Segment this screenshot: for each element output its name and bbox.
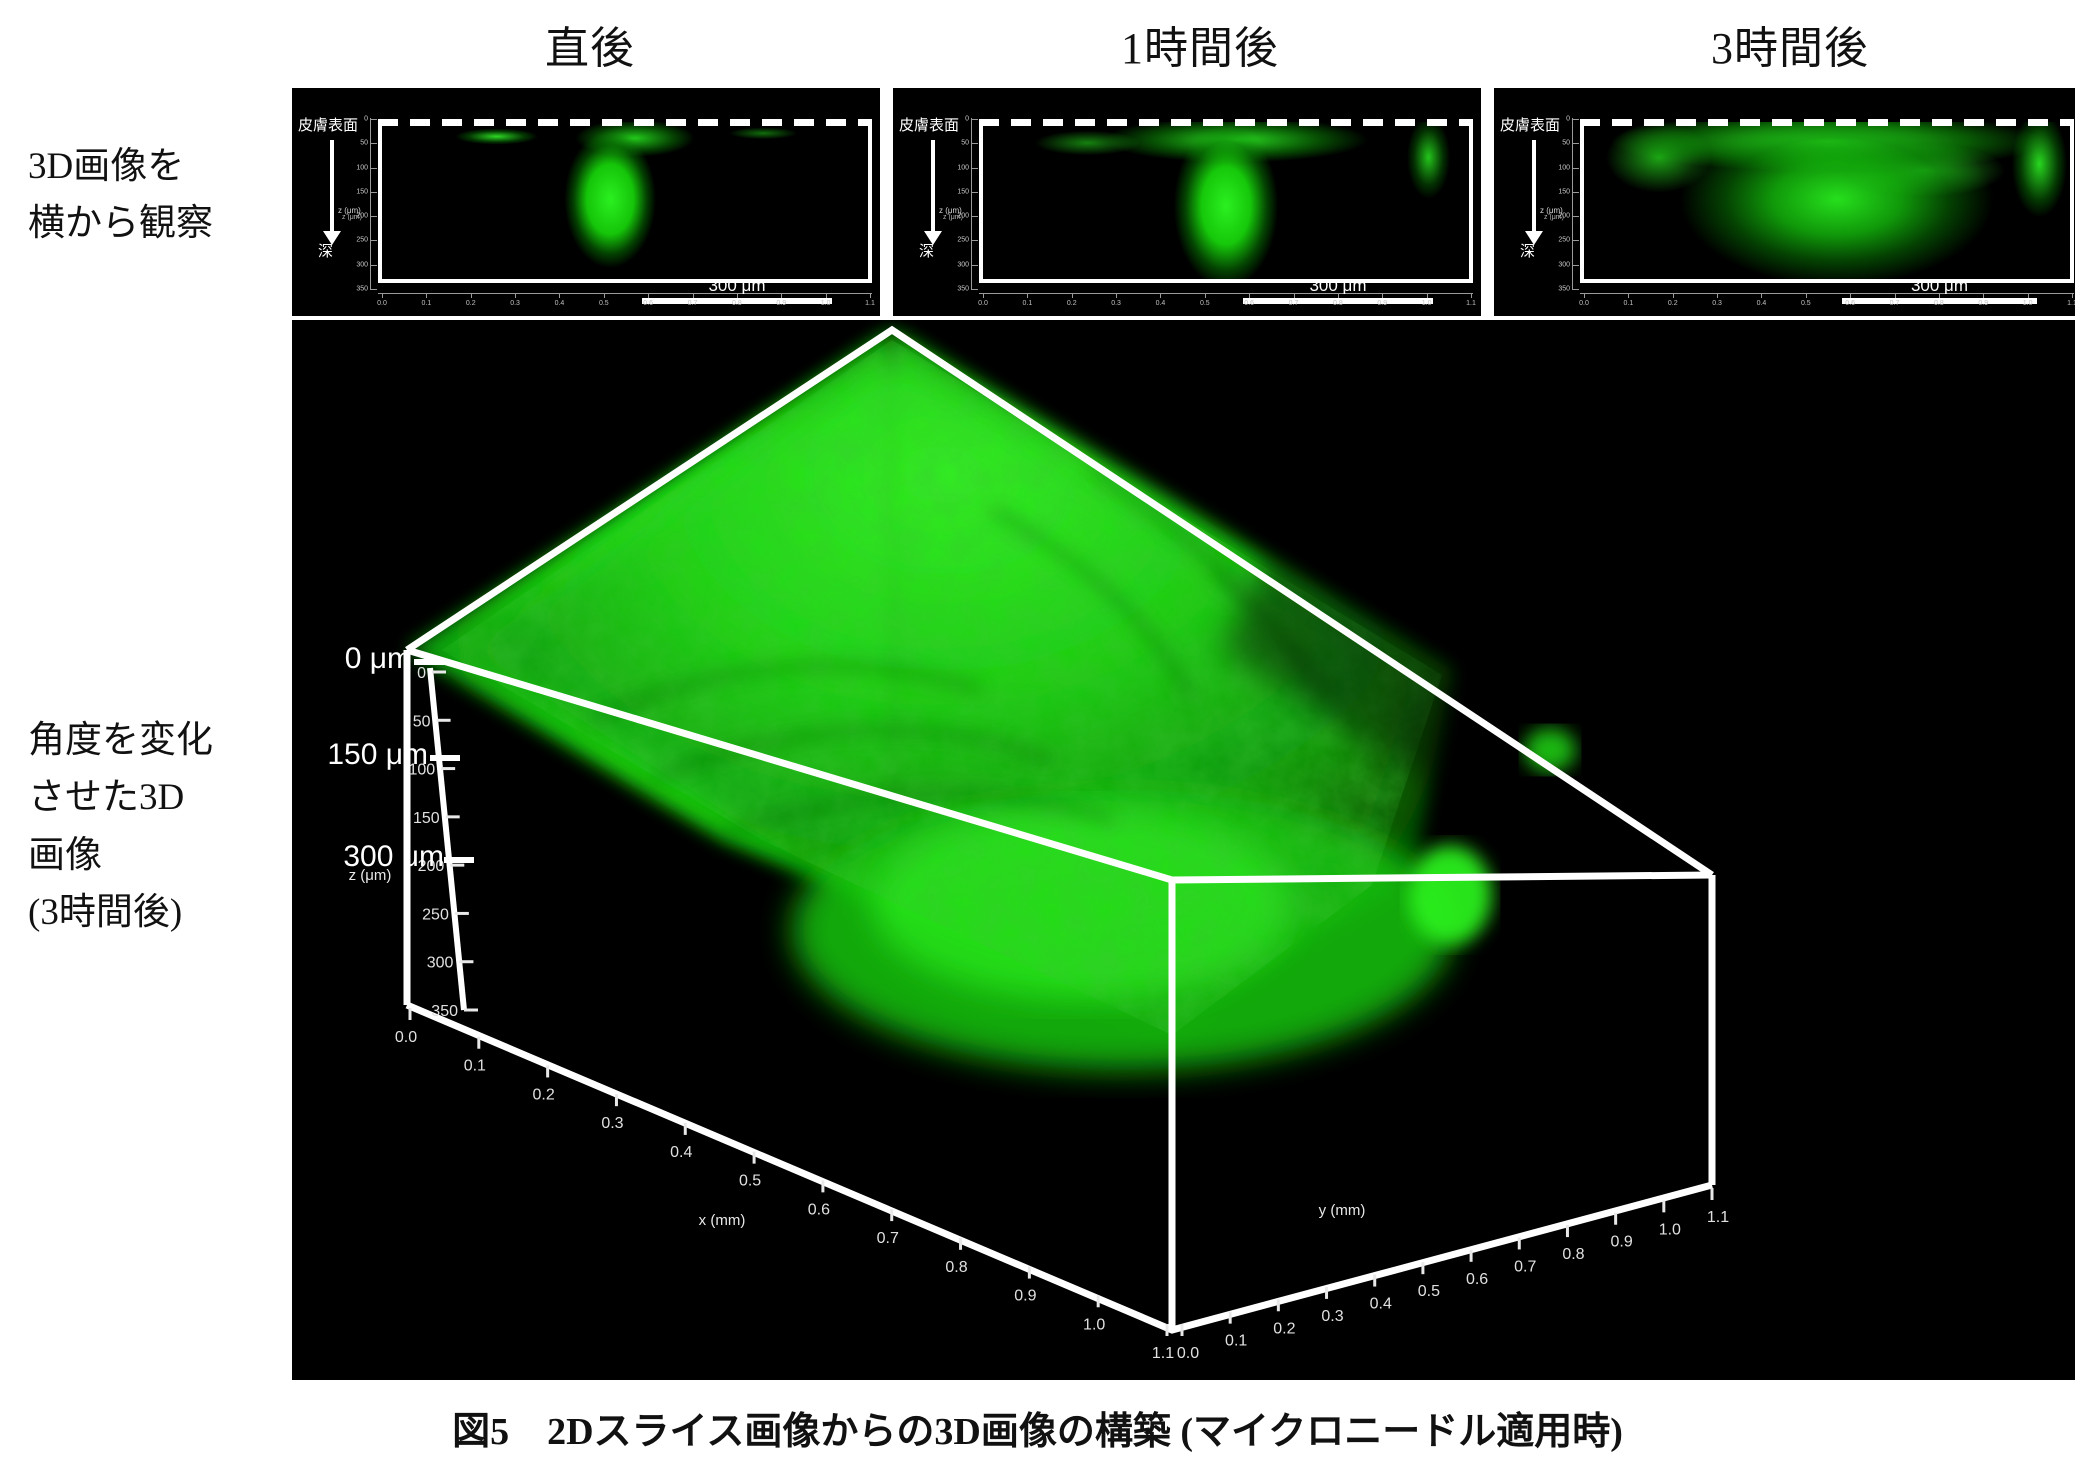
- x-axis-tick-label: 1.0: [1083, 1316, 1105, 1333]
- x-axis-tick-label: 0.9: [1014, 1288, 1036, 1305]
- z-axis-tick: [972, 119, 978, 120]
- z-axis-tick-label: 100: [957, 164, 969, 171]
- x-axis-tick-label: 0.2: [533, 1086, 555, 1103]
- x-axis-tick-label: 0.5: [739, 1173, 761, 1190]
- z-axis-tick: [371, 192, 377, 193]
- z-axis-tick-label: 200: [356, 213, 368, 220]
- row-label-side-view: 3D画像を横から観察: [28, 138, 213, 253]
- z-axis-tick-label: 250: [356, 237, 368, 244]
- z-axis-tick-label: 0: [1566, 116, 1570, 123]
- column-header-3hour: 3時間後: [1490, 12, 2075, 76]
- x-axis-tick: [1027, 293, 1028, 298]
- depth-arrow-icon: [330, 140, 334, 232]
- x-axis-tick: [693, 293, 694, 298]
- volume-frame: [979, 119, 1473, 283]
- x-axis-tick-label: 0.3: [510, 300, 520, 307]
- z-axis-tick-label: 200: [957, 213, 969, 220]
- z-axis-tick: [371, 216, 377, 217]
- z-axis-tick-label: 50: [1562, 140, 1570, 147]
- z-axis-tick-label: 350: [431, 1003, 458, 1020]
- z-axis-tick-label: 350: [1558, 286, 1570, 293]
- x-axis-tick: [1673, 293, 1674, 298]
- x-axis-tick-label: 0.2: [466, 300, 476, 307]
- x-axis-tick: [1116, 293, 1117, 298]
- z-axis-tick: [1573, 119, 1579, 120]
- z-axis-tick-label: 150: [413, 810, 440, 827]
- x-axis-tick: [1850, 293, 1851, 298]
- x-axis-tick-label: 1.1: [1466, 300, 1476, 307]
- x-axis-tick: [1338, 293, 1339, 298]
- skin-surface-label: 皮膚表面: [1500, 114, 1560, 135]
- z-axis-tick-label: 100: [1558, 164, 1570, 171]
- x-axis-tick: [1584, 293, 1585, 298]
- volume-render-panel: 050100150200250300350 z (μm) 0.00.10.20.…: [292, 320, 2075, 1380]
- x-axis-tick-label: 0.1: [421, 300, 431, 307]
- z-axis-tick-label: 0: [965, 116, 969, 123]
- x-axis-tick: [1761, 293, 1762, 298]
- z-axis-tick-label: 350: [356, 286, 368, 293]
- row-label-line: 角度を変化: [28, 712, 213, 769]
- z-axis-tick-label: 0: [364, 116, 368, 123]
- z-axis-tick-label: 0: [417, 665, 426, 682]
- x-axis-tick-label: 0.8: [1333, 300, 1343, 307]
- volume-frame: [1580, 119, 2074, 283]
- y-axis-title: y (mm): [1319, 1202, 1366, 1219]
- x-axis-tick: [826, 293, 827, 298]
- x-axis-tick-label: 1.1: [865, 300, 875, 307]
- z-axis-tick: [972, 265, 978, 266]
- x-axis-tick-label: 1.1: [2067, 300, 2075, 307]
- z-axis-tick: [371, 240, 377, 241]
- x-axis-tick-label: 0.8: [945, 1259, 967, 1276]
- x-axis-tick-label: 0.4: [555, 300, 565, 307]
- z-axis-tick: [371, 265, 377, 266]
- x-axis-tick-label: 0.6: [1845, 300, 1855, 307]
- z-axis-tick-label: 50: [360, 140, 368, 147]
- z-axis-tick: [972, 168, 978, 169]
- z-axis-tick: [972, 240, 978, 241]
- z-axis-tick-label: 300: [1558, 261, 1570, 268]
- x-axis-tick-label: 0.4: [1757, 300, 1767, 307]
- x-axis-tick-label: 0.7: [877, 1230, 899, 1247]
- x-axis-tick: [471, 293, 472, 298]
- callout-150um: 150 μm: [292, 738, 428, 772]
- x-axis-tick: [1471, 293, 1472, 298]
- depth-arrow-icon: [1532, 140, 1536, 232]
- x-axis-tick-label: 0.6: [808, 1201, 830, 1218]
- y-axis-tick-label: 0.4: [1370, 1296, 1392, 1313]
- z-axis-tick-label: 300: [957, 261, 969, 268]
- x-axis-tick-label: 0.0: [1579, 300, 1589, 307]
- y-axis-group: 0.00.10.20.30.40.50.60.70.80.91.01.1 y (…: [1177, 1188, 1729, 1362]
- x-axis-tick: [559, 293, 560, 298]
- row-label-line: させた3D: [28, 769, 213, 826]
- depth-arrow-icon: [931, 140, 935, 232]
- x-axis-tick-label: 0.9: [1978, 300, 1988, 307]
- x-axis-tick: [737, 293, 738, 298]
- z-axis-tick-label: 250: [1558, 237, 1570, 244]
- x-axis-tick: [1205, 293, 1206, 298]
- y-axis-tick-label: 0.2: [1273, 1320, 1295, 1337]
- x-axis-tick: [1717, 293, 1718, 298]
- x-axis-tick: [983, 293, 984, 298]
- z-axis-tick-label: 150: [957, 188, 969, 195]
- side-view-panel-immediately: 皮膚表面 z (μm) 深 z (μm) 300 μm 050100150200…: [292, 88, 880, 316]
- x-axis-tick-label: 0.8: [732, 300, 742, 307]
- x-axis-tick-label: 0.5: [1801, 300, 1811, 307]
- x-axis-tick-label: 0.3: [601, 1115, 623, 1132]
- x-axis-tick: [2072, 293, 2073, 298]
- x-axis-tick-label: 0.1: [1623, 300, 1633, 307]
- x-axis-tick-label: 0.1: [464, 1058, 486, 1075]
- x-axis-tick: [1072, 293, 1073, 298]
- volume-frame: [378, 119, 872, 283]
- z-axis-tick-label: 250: [957, 237, 969, 244]
- z-axis-tick-label: 300: [427, 955, 454, 972]
- volume-render-svg: 050100150200250300350 z (μm) 0.00.10.20.…: [292, 320, 2075, 1380]
- y-axis-tick-label: 0.3: [1321, 1308, 1343, 1325]
- deep-label: 深: [919, 240, 934, 261]
- x-axis-tick: [781, 293, 782, 298]
- deep-label: 深: [1520, 240, 1535, 261]
- row-label-line: 横から観察: [28, 195, 213, 252]
- x-axis-tick: [1895, 293, 1896, 298]
- x-axis-tick: [1160, 293, 1161, 298]
- x-axis-tick: [382, 293, 383, 298]
- x-axis-tick: [1382, 293, 1383, 298]
- z-axis-tick-label: 300: [356, 261, 368, 268]
- column-header-1hour: 1時間後: [900, 12, 1500, 76]
- x-axis-tick: [1294, 293, 1295, 298]
- row-label-line: (3時間後): [28, 884, 213, 941]
- y-axis-tick-label: 0.1: [1225, 1333, 1247, 1350]
- row-label-rotated-3d: 角度を変化させた3D画像(3時間後): [28, 712, 213, 941]
- x-axis-tick-label: 0.5: [1200, 300, 1210, 307]
- z-axis-tick: [371, 168, 377, 169]
- z-axis-tick: [1573, 168, 1579, 169]
- y-axis-tick-label: 0.0: [1177, 1345, 1199, 1362]
- x-axis-tick: [870, 293, 871, 298]
- x-axis-tick-label: 0.9: [776, 300, 786, 307]
- x-axis-tick: [1806, 293, 1807, 298]
- skin-surface-dashed-line: [1580, 119, 2074, 126]
- z-axis-tick: [972, 143, 978, 144]
- x-axis-tick-label: 0.0: [978, 300, 988, 307]
- x-axis-tick-label: 0.0: [377, 300, 387, 307]
- x-axis-tick: [1628, 293, 1629, 298]
- row-label-line: 3D画像を: [28, 138, 213, 195]
- skin-surface-dashed-line: [979, 119, 1473, 126]
- x-axis-tick: [1427, 293, 1428, 298]
- side-view-panel-3hour: 皮膚表面 z (μm) 深 z (μm) 300 μm 050100150200…: [1494, 88, 2075, 316]
- z-axis-tick: [972, 289, 978, 290]
- x-axis-tick: [1249, 293, 1250, 298]
- deep-label: 深: [318, 240, 333, 261]
- y-axis-tick-label: 0.6: [1466, 1271, 1488, 1288]
- x-axis-tick: [648, 293, 649, 298]
- skin-surface-label: 皮膚表面: [298, 114, 358, 135]
- x-axis-tick-label: 0.3: [1712, 300, 1722, 307]
- x-axis-tick-label: 0.9: [1377, 300, 1387, 307]
- column-header-immediately: 直後: [290, 12, 890, 76]
- z-axis-tick: [371, 119, 377, 120]
- z-axis-tick: [1573, 143, 1579, 144]
- x-axis-tick-label: 0.1: [1022, 300, 1032, 307]
- z-axis-tick: [972, 192, 978, 193]
- row-label-line: 画像: [28, 827, 213, 884]
- x-axis-tick-label: 0.8: [1934, 300, 1944, 307]
- y-axis-tick-label: 1.1: [1707, 1209, 1729, 1226]
- x-axis-tick-label: 0.2: [1668, 300, 1678, 307]
- figure-caption: 図5 2Dスライス画像からの3D画像の構築 (マイクロニードル適用時): [0, 1400, 2075, 1455]
- y-axis-tick-label: 0.7: [1514, 1258, 1536, 1275]
- x-axis-tick: [604, 293, 605, 298]
- y-axis-tick-label: 0.5: [1418, 1283, 1440, 1300]
- x-axis-tick-label: 1.1: [1152, 1345, 1174, 1362]
- z-axis-tick-label: 50: [961, 140, 969, 147]
- callout-300um: 300 μm: [292, 840, 444, 874]
- x-axis-tick: [1983, 293, 1984, 298]
- z-axis-tick-label: 100: [356, 164, 368, 171]
- x-axis-tick: [1939, 293, 1940, 298]
- z-axis-tick: [1573, 240, 1579, 241]
- x-axis-tick-label: 0.7: [688, 300, 698, 307]
- z-axis-tick: [371, 289, 377, 290]
- z-axis-tick: [1573, 216, 1579, 217]
- x-axis-tick: [426, 293, 427, 298]
- y-axis-tick-label: 0.9: [1611, 1234, 1633, 1251]
- z-axis-tick: [1573, 265, 1579, 266]
- z-axis-tick-label: 150: [1558, 188, 1570, 195]
- z-axis-tick-label: 200: [1558, 213, 1570, 220]
- y-axis-tick-label: 1.0: [1659, 1221, 1681, 1238]
- y-axis-tick-label: 0.8: [1562, 1246, 1584, 1263]
- x-axis-tick-label: 0.0: [395, 1029, 417, 1046]
- z-axis-tick: [972, 216, 978, 217]
- x-axis-tick-label: 1.0: [821, 300, 831, 307]
- x-axis-tick-label: 0.6: [1244, 300, 1254, 307]
- skin-surface-dashed-line: [378, 119, 872, 126]
- x-axis-tick-label: 0.3: [1111, 300, 1121, 307]
- z-axis-tick: [371, 143, 377, 144]
- z-axis-tick-label: 50: [413, 713, 431, 730]
- x-axis-tick: [515, 293, 516, 298]
- x-axis-tick-label: 0.4: [1156, 300, 1166, 307]
- skin-surface-label: 皮膚表面: [899, 114, 959, 135]
- x-axis-tick-label: 1.0: [2023, 300, 2033, 307]
- callout-0um: 0 μm: [292, 642, 412, 676]
- x-axis-tick-label: 1.0: [1422, 300, 1432, 307]
- z-axis-tick: [1573, 192, 1579, 193]
- x-axis-tick-label: 0.7: [1289, 300, 1299, 307]
- x-axis-tick-label: 0.7: [1890, 300, 1900, 307]
- side-view-panel-1hour: 皮膚表面 z (μm) 深 z (μm) 300 μm 050100150200…: [893, 88, 1481, 316]
- x-axis-tick-label: 0.4: [670, 1144, 692, 1161]
- x-axis-tick-label: 0.2: [1067, 300, 1077, 307]
- z-axis-tick-label: 250: [422, 906, 449, 923]
- x-axis-tick-label: 0.6: [643, 300, 653, 307]
- z-axis-tick: [1573, 289, 1579, 290]
- x-axis-title: x (mm): [699, 1212, 746, 1229]
- z-axis-tick-label: 150: [356, 188, 368, 195]
- z-axis-tick-label: 350: [957, 286, 969, 293]
- x-axis-tick-label: 0.5: [599, 300, 609, 307]
- x-axis-tick: [2028, 293, 2029, 298]
